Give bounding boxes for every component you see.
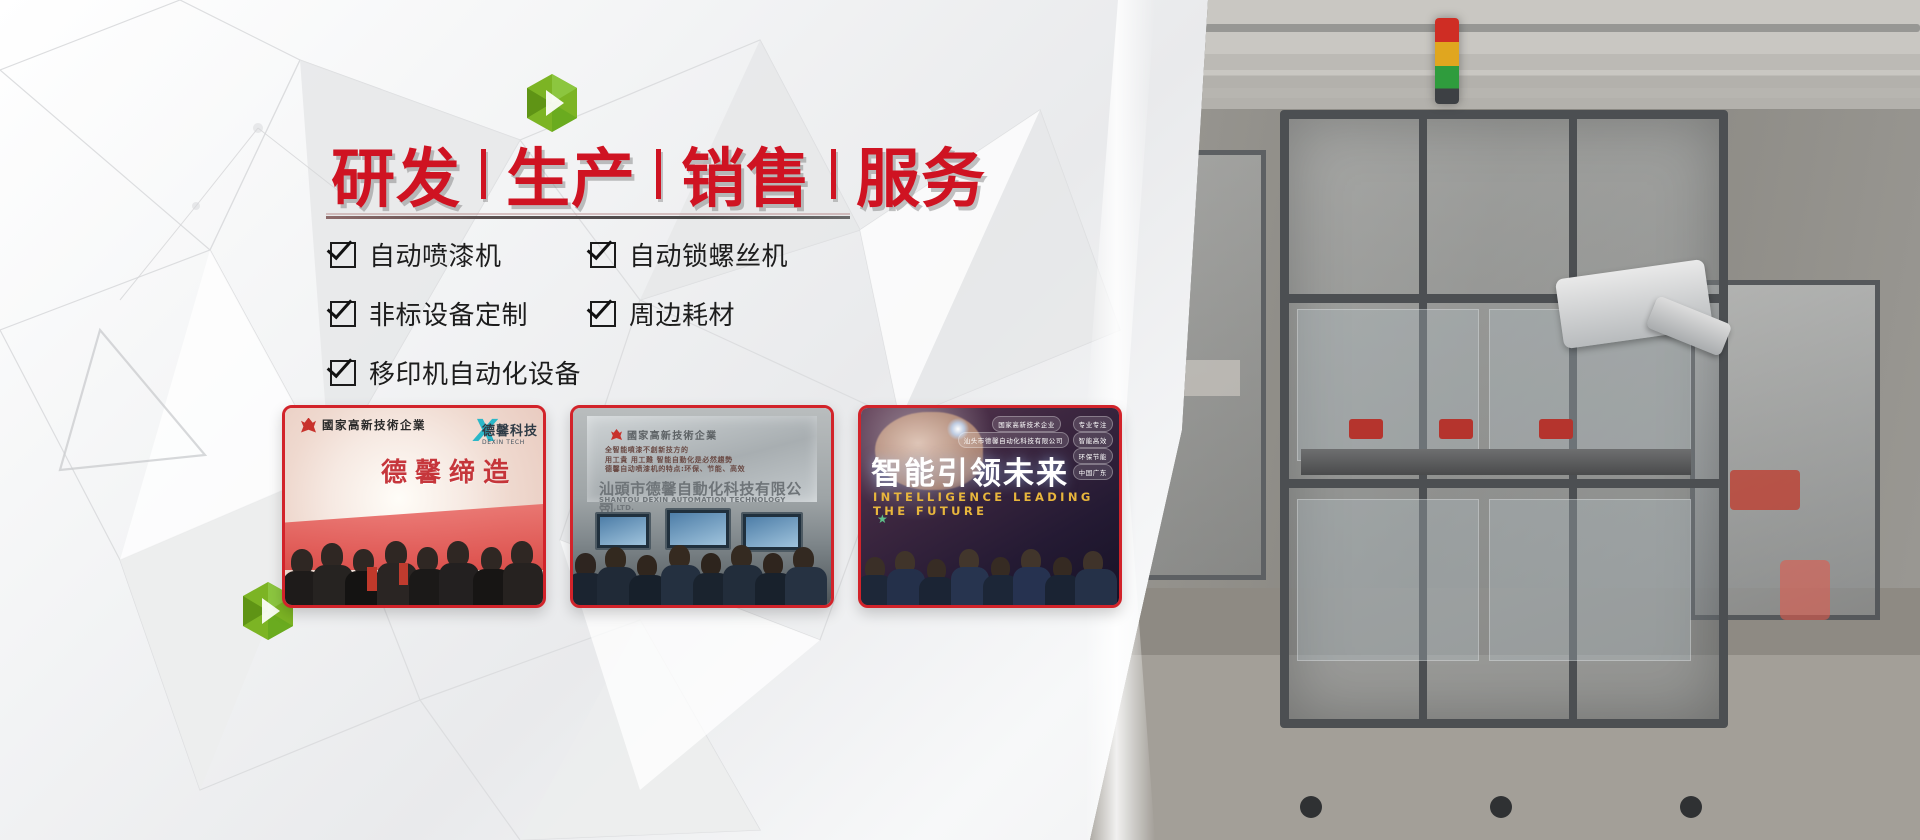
photo-card-list: 國家高新技術企業 X 德馨科技 DEXIN TECH 德馨缔造: [282, 405, 1122, 608]
card2-plaque-title: 國家高新技術企業: [627, 427, 717, 442]
card3-pill: 中国广东: [1073, 464, 1113, 480]
card1-badge: 國家高新技術企業: [301, 417, 426, 433]
card1-brand: 德馨科技 DEXIN TECH: [482, 420, 538, 446]
card2-plaque-header: 國家高新技術企業: [611, 427, 717, 442]
photo-card[interactable]: 國家高新技術企業 全智能噴漆不創新技方的 用工貴 用工難 智能自動化是必然趨勢 …: [570, 405, 834, 608]
checkbox-checked-icon: [330, 301, 356, 327]
feature-label: 移印机自动化设备: [369, 354, 581, 391]
photo-card[interactable]: 智能引领未来 INTELLIGENCE LEADING THE FUTURE 专…: [858, 405, 1122, 608]
card1-badge-text: 國家高新技術企業: [322, 417, 426, 433]
headline: 研发 生产 销售 服务: [325, 128, 992, 220]
headline-word-3: 销售: [675, 128, 817, 220]
headline-word-2: 生产: [500, 128, 642, 220]
card1-slogan: 德馨缔造: [381, 452, 517, 489]
feature-item: 非标设备定制: [330, 295, 590, 332]
photo-card[interactable]: 國家高新技術企業 X 德馨科技 DEXIN TECH 德馨缔造: [282, 405, 546, 608]
card3-pill: 专业专注: [1073, 416, 1113, 432]
promo-banner: 研发 生产 销售 服务 自动喷漆机 自动锁螺丝机: [0, 0, 1920, 840]
headline-separator: [656, 149, 661, 199]
feature-row: 移印机自动化设备: [330, 354, 850, 391]
checkbox-checked-icon: [590, 301, 616, 327]
card1-brand-en: DEXIN TECH: [482, 439, 538, 446]
group-photo-people: [861, 533, 1119, 605]
card3-pill: 国家高新技术企业: [992, 416, 1061, 432]
card3-pill: 汕头市德馨自动化科技有限公司: [958, 432, 1069, 448]
headline-separator: [481, 149, 486, 199]
card3-pill: 智能高效: [1073, 432, 1113, 448]
flame-icon: [611, 429, 622, 440]
feature-label: 周边耗材: [629, 295, 735, 332]
group-photo-people: [573, 531, 831, 605]
feature-label: 自动锁螺丝机: [629, 236, 788, 273]
checkbox-checked-icon: [330, 360, 356, 386]
star-icon: ★: [877, 512, 888, 526]
card2-plaque-lines: 全智能噴漆不創新技方的 用工貴 用工難 智能自動化是必然趨勢 德馨自动喷漆机的特…: [605, 446, 745, 475]
group-photo-people: [285, 519, 543, 605]
headline-separator: [831, 149, 836, 199]
flame-icon: [301, 418, 316, 433]
feature-label: 非标设备定制: [369, 295, 528, 332]
green-hexagon-play-icon: [524, 72, 580, 134]
feature-item: 周边耗材: [590, 295, 850, 332]
card2-line-2: 用工貴 用工難 智能自動化是必然趨勢: [605, 456, 745, 466]
card2-line-1: 全智能噴漆不創新技方的: [605, 446, 745, 456]
headline-divider: [326, 216, 850, 219]
feature-item: 移印机自动化设备: [330, 354, 850, 391]
feature-label: 自动喷漆机: [369, 236, 502, 273]
card1-brand-cn: 德馨科技: [482, 420, 538, 439]
feature-row: 自动喷漆机 自动锁螺丝机: [330, 236, 850, 273]
card3-title: 智能引领未来: [871, 448, 1069, 493]
factory-automation-machine-photo: [1090, 0, 1920, 840]
feature-row: 非标设备定制 周边耗材: [330, 295, 850, 332]
feature-item: 自动喷漆机: [330, 236, 590, 273]
checkbox-checked-icon: [590, 242, 616, 268]
feature-list: 自动喷漆机 自动锁螺丝机 非标设备定制 周边耗材: [330, 236, 850, 413]
card3-pill: 环保节能: [1073, 448, 1113, 464]
checkbox-checked-icon: [330, 242, 356, 268]
headline-word-1: 研发: [325, 128, 467, 220]
feature-item: 自动锁螺丝机: [590, 236, 850, 273]
card2-line-3: 德馨自动喷漆机的特点:环保、节能、高效: [605, 465, 745, 475]
headline-word-4: 服务: [850, 128, 992, 220]
card3-subtitle: INTELLIGENCE LEADING THE FUTURE: [873, 490, 1119, 518]
